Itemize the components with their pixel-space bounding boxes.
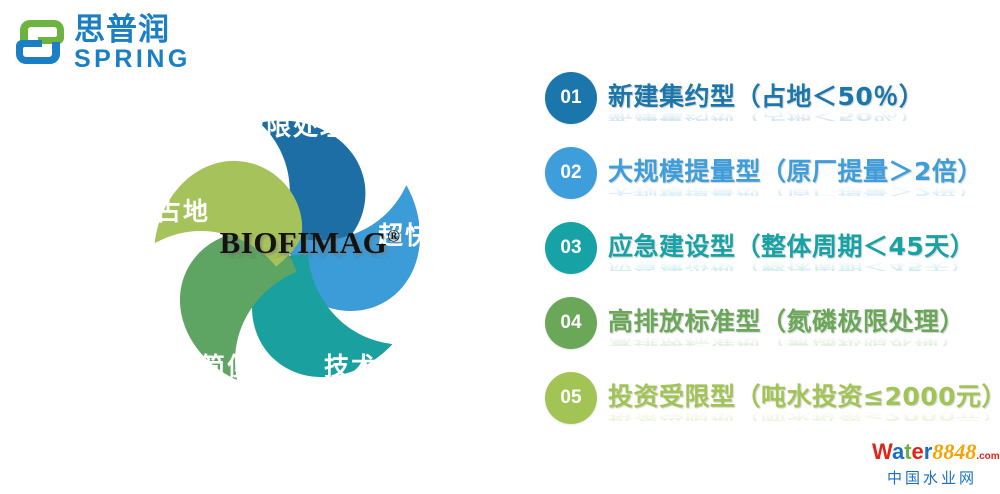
list-item-badge-03: 03 <box>545 222 597 274</box>
list-item-text-wrap: 大规模提量型（原厂提量＞2倍） 大规模提量型（原厂提量＞2倍） <box>608 146 998 216</box>
list-item-badge-05: 05 <box>545 372 597 424</box>
list-item-text-wrap: 投资受限型（吨水投资≤2000元） 投资受限型（吨水投资≤2000元） <box>608 371 998 441</box>
pinwheel-diagram: 极限处理 超快实施 技术经济 管理简便 极限占地 <box>60 40 520 470</box>
list-item-text-wrap: 应急建设型（整体周期＜45天） 应急建设型（整体周期＜45天） <box>608 221 998 291</box>
diagram-center-label: BIOFIMAG® BIOFIMAG <box>210 225 410 299</box>
list-item[interactable]: 03 应急建设型（整体周期＜45天） 应急建设型（整体周期＜45天） <box>540 222 995 297</box>
list-item[interactable]: 02 大规模提量型（原厂提量＞2倍） 大规模提量型（原厂提量＞2倍） <box>540 147 995 222</box>
watermark-e: e <box>912 439 924 464</box>
list-item-badge-02: 02 <box>545 147 597 199</box>
list-item[interactable]: 01 新建集约型（占地＜50％） 新建集约型（占地＜50％） <box>540 72 995 147</box>
watermark-subtitle: 中国水业网 <box>872 469 992 488</box>
petal-bottom-left-label: 管理简便 <box>146 352 254 381</box>
watermark-w: W <box>872 439 892 464</box>
list-item[interactable]: 05 投资受限型（吨水投资≤2000元） 投资受限型（吨水投资≤2000元） <box>540 372 995 447</box>
petal-top-label: 极限处理 <box>239 112 347 141</box>
list-item[interactable]: 04 高排放标准型（氮磷极限处理） 高排放标准型（氮磷极限处理） <box>540 297 995 372</box>
watermark-a: a <box>892 439 904 464</box>
list-item-badge-01: 01 <box>545 72 597 124</box>
spring-logo-mark-icon <box>14 16 66 68</box>
list-item-text-wrap: 新建集约型（占地＜50％） 新建集约型（占地＜50％） <box>608 71 998 141</box>
list-item-label-04-reflection: 高排放标准型（氮磷极限处理） <box>608 336 998 346</box>
list-item-label-02-reflection: 大规模提量型（原厂提量＞2倍） <box>608 186 998 196</box>
watermark-dotcom: .com <box>976 451 999 462</box>
watermark-digits: 8848 <box>932 439 976 464</box>
petal-left-label: 极限占地 <box>102 197 210 226</box>
petal-bottom-right-label: 技术经济 <box>324 352 432 381</box>
watermark: Water8848.com 中国水业网 <box>872 440 992 488</box>
list-item-label-05-reflection: 投资受限型（吨水投资≤2000元） <box>608 411 998 421</box>
biofimag-wordmark-reflection: BIOFIMAG <box>210 243 410 263</box>
list-item-badge-04: 04 <box>545 297 597 349</box>
list-item-label-01-reflection: 新建集约型（占地＜50％） <box>608 111 998 121</box>
feature-list: 01 新建集约型（占地＜50％） 新建集约型（占地＜50％） 02 大规模提量型… <box>540 72 995 447</box>
list-item-label-03-reflection: 应急建设型（整体周期＜45天） <box>608 261 998 271</box>
watermark-t: t <box>904 439 911 464</box>
list-item-text-wrap: 高排放标准型（氮磷极限处理） 高排放标准型（氮磷极限处理） <box>608 296 998 366</box>
watermark-wordmark: Water8848.com <box>872 440 992 469</box>
slide-canvas: 思普润 SPRING 极限处理 超快实施 <box>0 0 1000 494</box>
